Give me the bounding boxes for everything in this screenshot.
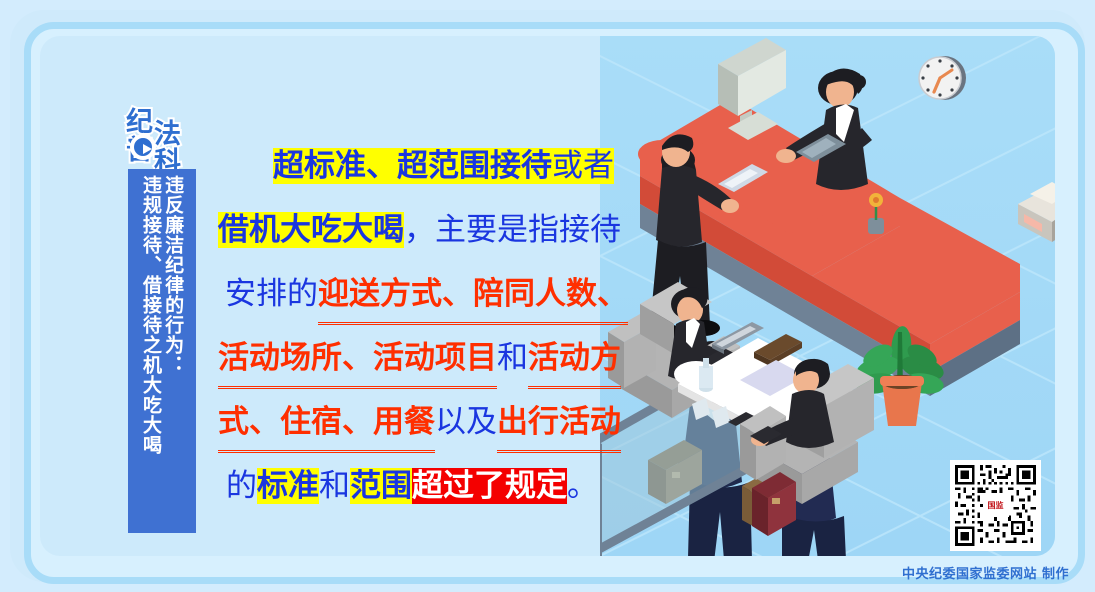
footer-credit: 中央纪委国家监委网站 制作 (902, 563, 1069, 582)
paragraph-line-2: 借机大吃大喝，主要是指接待 (218, 198, 648, 262)
line4-seg3: 活动方 (528, 332, 621, 389)
line2-seg1: 借机大吃大喝 (218, 212, 404, 248)
paragraph-line-3: 安排的迎送方式、陪同人数、 (218, 262, 648, 326)
paragraph-line-6: 的标准和范围超过了规定。 (218, 454, 648, 518)
line4-seg1: 活动场所、活动项目 (218, 332, 497, 389)
main-paragraph: 超标准、超范围接待或者 借机大吃大喝，主要是指接待 安排的迎送方式、陪同人数、 … (218, 134, 648, 518)
line6-seg3: 和 (319, 468, 350, 504)
play-button-icon (130, 134, 156, 160)
line2-seg2: ，主要是指接待 (404, 212, 621, 248)
line1-seg1: 超标准、超范围接待 (273, 148, 552, 184)
line3-seg1: 安排的 (225, 276, 318, 312)
sidebar-column-right: 违反廉洁纪律的行为： (163, 175, 183, 533)
paragraph-line-5: 式、住宿、用餐以及出行活动 (218, 390, 648, 454)
line5-seg2: 以及 (435, 404, 497, 440)
line5-seg3: 出行活动 (497, 396, 621, 453)
line3-seg2: 迎送方式、陪同人数、 (318, 268, 628, 325)
line6-seg5: 超过了规定 (412, 468, 567, 504)
frame-inner: 纪 法 普 科 违反廉洁纪律的行为： 违规接待、借接待之机大吃大喝 超标准、超范… (40, 36, 1055, 556)
line4-seg2: 和 (497, 340, 528, 376)
line6-seg4: 范围 (350, 468, 412, 504)
line1-seg2: 或者 (552, 148, 614, 184)
vertical-title-bar: 违反廉洁纪律的行为： 违规接待、借接待之机大吃大喝 (128, 169, 196, 533)
line6-seg2: 标准 (257, 468, 319, 504)
line6-seg6: 。 (567, 468, 598, 504)
paragraph-line-4: 活动场所、活动项目和活动方 (218, 326, 648, 390)
sidebar-column-left: 违规接待、借接待之机大吃大喝 (141, 175, 161, 533)
line5-seg1: 式、住宿、用餐 (218, 396, 435, 453)
poster-canvas: 纪 法 普 科 违反廉洁纪律的行为： 违规接待、借接待之机大吃大喝 超标准、超范… (0, 0, 1095, 592)
line6-seg1: 的 (226, 468, 257, 504)
qr-center-stamp: 国监 (983, 495, 1009, 517)
wall-clock-graphic (919, 56, 966, 100)
qr-code[interactable]: 国监 (950, 460, 1041, 551)
paragraph-line-1: 超标准、超范围接待或者 (218, 134, 648, 198)
jifa-kepu-logo: 纪 法 普 科 (124, 98, 220, 176)
